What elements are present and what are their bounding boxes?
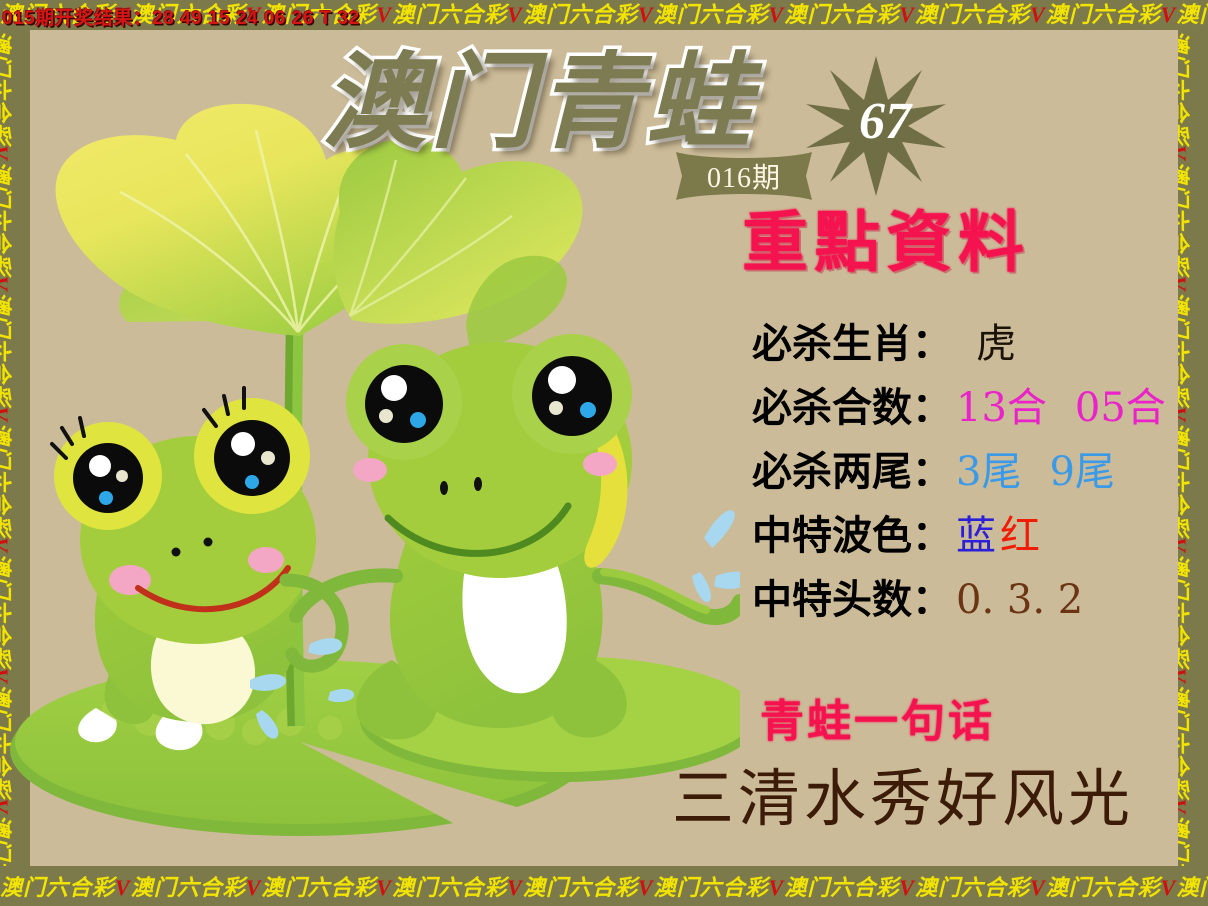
page-title: 澳门青蛙 bbox=[322, 52, 754, 156]
phrase-text: 三清水秀好风光 bbox=[672, 768, 1134, 830]
info-label-toushu: 中特头数： bbox=[752, 568, 952, 631]
info-row-liangwei: 必杀两尾： 3尾 9尾 bbox=[752, 440, 1192, 504]
border-band-bottom-text: 澳门六合彩V澳门六合彩V澳门六合彩V澳门六合彩V澳门六合彩V澳门六合彩V澳门六合… bbox=[0, 875, 1208, 900]
info-value-bose-blue: 蓝 bbox=[956, 505, 996, 568]
info-row-toushu: 中特头数： 0. 3. 2 bbox=[752, 568, 1192, 632]
info-value-heshu-2: 05合 bbox=[1075, 377, 1166, 440]
info-value-heshu-1: 13合 bbox=[956, 377, 1047, 440]
info-value-shengxiao: 虎 bbox=[976, 313, 1016, 376]
info-label-liangwei: 必杀两尾： bbox=[752, 440, 952, 503]
info-row-bose: 中特波色： 蓝 红 bbox=[752, 504, 1192, 568]
info-row-shengxiao: 必杀生肖： 虎 bbox=[752, 312, 1192, 376]
info-list: 必杀生肖： 虎 必杀合数： 13合 05合 必杀两尾： 3尾 9尾 中特波色： … bbox=[752, 312, 1192, 632]
poster-root: 澳门六合彩V澳门六合彩V澳门六合彩V澳门六合彩V澳门六合彩V澳门六合彩V澳门六合… bbox=[0, 0, 1208, 906]
info-row-heshu: 必杀合数： 13合 05合 bbox=[752, 376, 1192, 440]
info-value-toushu: 0. 3. 2 bbox=[956, 569, 1083, 632]
panel-heading: 重點資料 bbox=[742, 210, 1030, 276]
info-label-shengxiao: 必杀生肖： bbox=[752, 312, 952, 375]
info-label-bose: 中特波色： bbox=[752, 504, 952, 567]
phrase-title: 青蛙一句话 bbox=[760, 700, 995, 744]
burst-number: 67 bbox=[845, 92, 925, 152]
info-label-heshu: 必杀合数： bbox=[752, 376, 952, 439]
info-value-bose-red: 红 bbox=[1000, 505, 1040, 568]
info-value-liangwei-1: 3尾 bbox=[956, 441, 1021, 504]
border-band-bottom: 澳门六合彩V澳门六合彩V澳门六合彩V澳门六合彩V澳门六合彩V澳门六合彩V澳门六合… bbox=[0, 866, 1208, 906]
draw-result-line: 015期开奖结果：28 49 15 24 06 26 T 32 bbox=[2, 3, 360, 30]
info-value-liangwei-2: 9尾 bbox=[1049, 441, 1114, 504]
